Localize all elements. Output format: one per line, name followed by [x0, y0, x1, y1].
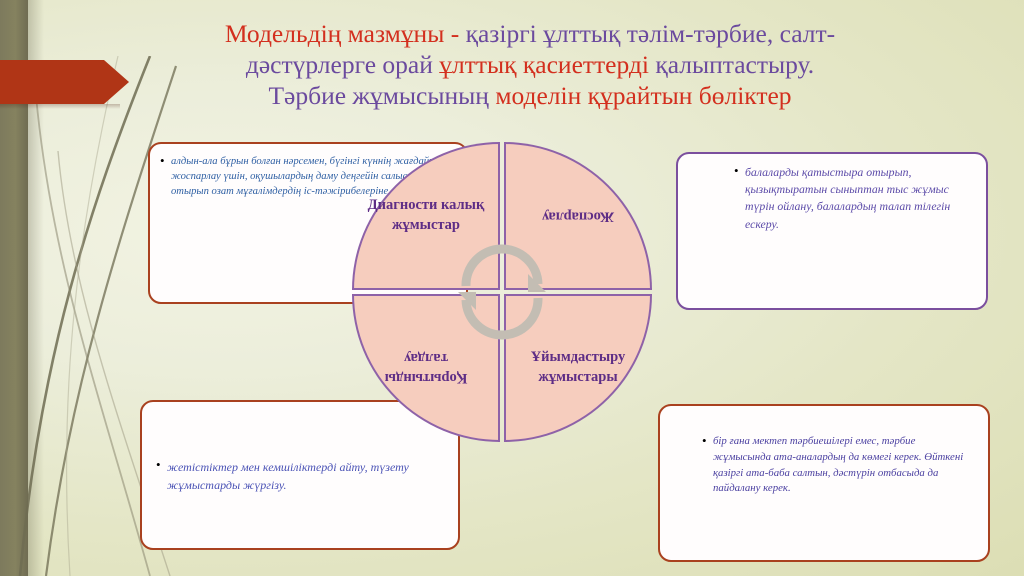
callout-bottom-left-text: жетістіктер мен кемшіліктерді айту, түзе… — [167, 458, 444, 494]
banner-shadow — [0, 104, 120, 109]
title-line2-red: ұлттық қасиеттерді — [439, 50, 655, 79]
quadrant-diagnostic-label: Диагности калық жұмыстар — [354, 196, 498, 235]
bullet-icon: • — [734, 164, 745, 233]
title-line2-purple-b: қалыптастыру. — [655, 50, 814, 79]
callout-bottom-right-text: бір ғана мектеп тәрбиешілері емес, тәрби… — [713, 434, 972, 497]
title-line3-purple: Тәрбие жұмысының — [268, 81, 495, 110]
title-line-3: Тәрбие жұмысының моделін құрайтын бөлікт… — [150, 80, 910, 111]
title-line-1: Модельдің мазмұны - қазіргі ұлттық тәлім… — [150, 18, 910, 49]
bullet-icon: • — [160, 154, 171, 199]
bullet-icon: • — [156, 458, 167, 494]
cycle-diagram: Диагности калық жұмыстар Жоспарлау Қорыт… — [352, 142, 652, 442]
title-line1-red: Модельдің мазмұны - — [225, 19, 466, 48]
title-line1-purple: қазіргі ұлттық тәлім-тәрбие, салт- — [466, 19, 836, 48]
callout-top-right: • балаларды қатыстыра отырып, қызықтырат… — [676, 152, 988, 310]
quadrant-organizing-label: Ұйымдастыру жұмыстары — [506, 348, 650, 387]
cycle-arrows-icon — [450, 240, 554, 344]
page-title: Модельдің мазмұны - қазіргі ұлттық тәлім… — [150, 18, 910, 111]
quadrant-planning-label: Жоспарлау — [534, 206, 622, 226]
title-line-2: дәстүрлерге орай ұлттық қасиеттерді қалы… — [150, 49, 910, 80]
callout-bottom-right: • бір ғана мектеп тәрбиешілері емес, тәр… — [658, 404, 990, 562]
decorative-arrow-banner — [0, 60, 104, 104]
bullet-icon: • — [702, 434, 713, 497]
callout-top-right-text: балаларды қатыстыра отырып, қызықтыратын… — [745, 164, 972, 233]
title-line2-purple-a: дәстүрлерге орай — [246, 50, 439, 79]
slide-canvas: Модельдің мазмұны - қазіргі ұлттық тәлім… — [0, 0, 1024, 576]
title-line3-red: моделін құрайтын бөліктер — [495, 81, 791, 110]
quadrant-analysis-label: Қорытынды талдау — [354, 348, 498, 387]
